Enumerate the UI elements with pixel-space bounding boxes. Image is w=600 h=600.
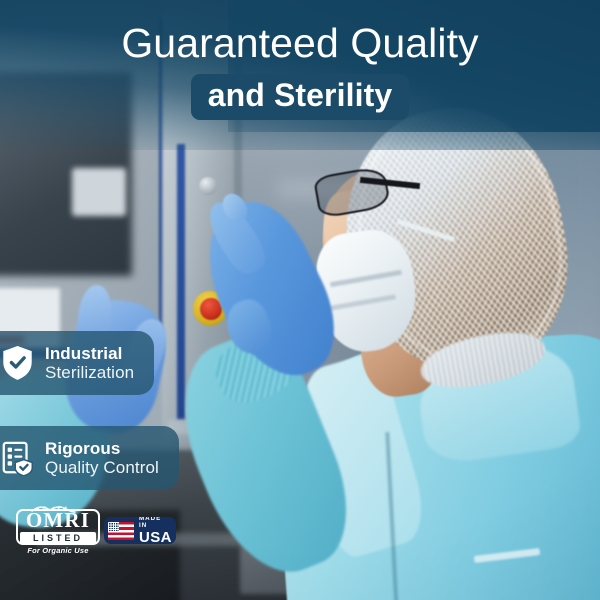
feature-card-subtitle: Quality Control [45, 458, 159, 477]
headline-badge: and Sterility [191, 74, 409, 121]
omri-listed-logo: OMRI LISTED For Organic Use [16, 505, 108, 555]
made-in-usa-text: MADE IN USA [139, 517, 172, 544]
headline-block: Guaranteed Quality and Sterility [0, 0, 600, 120]
feature-card-industrial-sterilization: Industrial Sterilization [0, 331, 154, 395]
marketing-banner: Guaranteed Quality and Sterility Industr… [0, 0, 600, 600]
feature-card-text: Industrial Sterilization [45, 344, 134, 382]
feature-card-text: Rigorous Quality Control [45, 439, 159, 477]
us-flag-canton [108, 522, 119, 532]
made-in-label: MADE IN [139, 517, 172, 529]
page-title: Guaranteed Quality [0, 22, 600, 65]
omri-wordmark: OMRI [16, 510, 100, 531]
omri-listed-bar: LISTED [20, 532, 96, 544]
feature-card-title: Rigorous [45, 439, 159, 458]
us-flag-icon [108, 522, 134, 540]
omri-tagline: For Organic Use [16, 546, 100, 555]
usa-label: USA [139, 530, 172, 544]
clipboard-shield-check-icon [1, 440, 34, 476]
feature-card-title: Industrial [45, 344, 134, 363]
shield-check-icon [1, 345, 34, 381]
headline-badge-row: and Sterility [0, 74, 600, 121]
feature-card-subtitle: Sterilization [45, 363, 134, 382]
made-in-usa-badge: MADE IN USA [104, 517, 176, 544]
feature-card-rigorous-quality-control: Rigorous Quality Control [0, 426, 179, 490]
